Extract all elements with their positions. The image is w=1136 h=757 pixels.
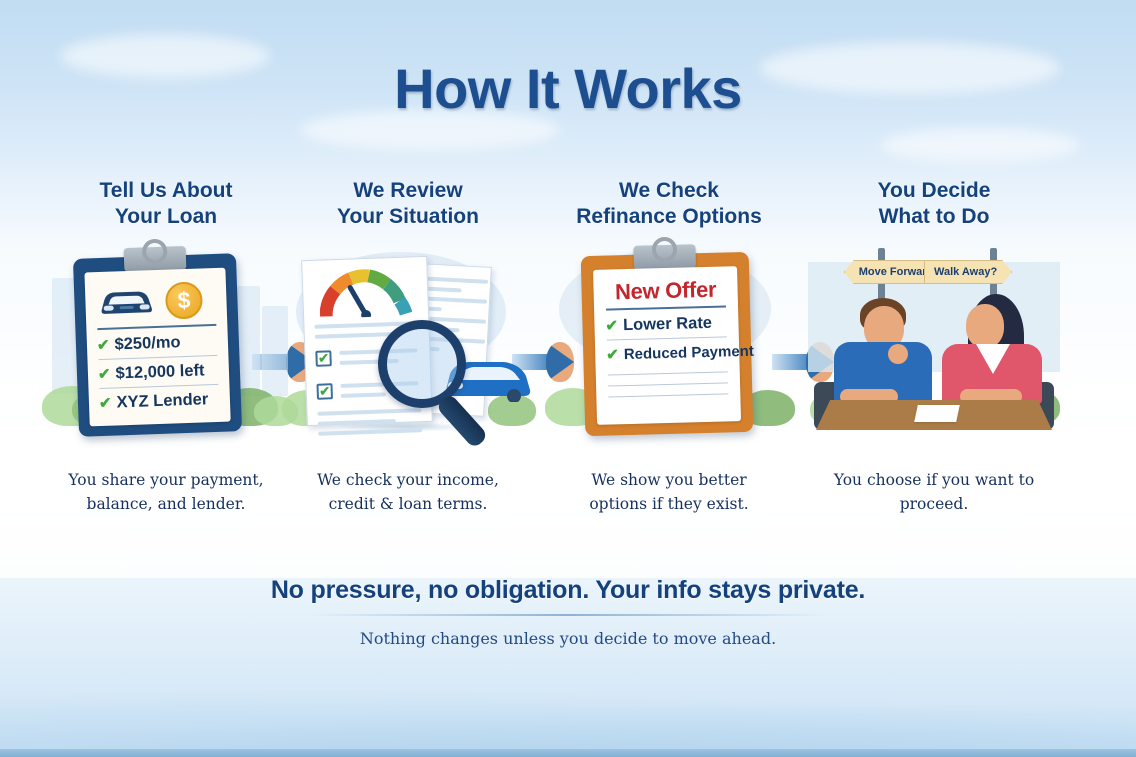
loan-item: ✔ XYZ Lender <box>98 388 222 414</box>
face <box>966 304 1004 348</box>
infographic-poster: How It Works Tell Us About Your Loan <box>0 0 1136 757</box>
footer: No pressure, no obligation. Your info st… <box>0 576 1136 648</box>
check-icon: ✔ <box>99 394 112 412</box>
step-2-illustration: ✔ ✔ <box>282 242 534 440</box>
person-woman <box>936 294 1044 404</box>
dollar-coin-icon: $ <box>165 281 203 319</box>
step-4-heading: You Decide What to Do <box>808 178 1060 232</box>
new-offer-title: New Offer <box>603 276 728 305</box>
step-3-heading-line1: We Check <box>543 178 795 204</box>
step-3-heading-line2: Refinance Options <box>543 204 795 230</box>
footer-divider <box>308 614 828 616</box>
check-icon: ✔ <box>605 316 618 334</box>
step-2-caption-line2: credit & loan terms. <box>282 492 534 516</box>
step-4-heading-line1: You Decide <box>808 178 1060 204</box>
check-icon: ✔ <box>606 345 619 363</box>
step-4-caption-line1: You choose if you want to <box>808 468 1060 492</box>
step-2-heading: We Review Your Situation <box>282 178 534 232</box>
offer-item: ✔ Reduced Payment <box>605 340 730 364</box>
loan-item-text: XYZ Lender <box>116 390 208 412</box>
hand <box>888 344 908 364</box>
checkbox-icon: ✔ <box>316 383 333 400</box>
clipboard-clip-icon <box>123 246 186 272</box>
step-2-heading-line1: We Review <box>282 178 534 204</box>
step-4-caption-line2: proceed. <box>808 492 1060 516</box>
step-1-caption-line1: You share your payment, <box>40 468 292 492</box>
step-2-caption: We check your income, credit & loan term… <box>282 468 534 516</box>
footer-subtext: Nothing changes unless you decide to mov… <box>0 629 1136 648</box>
bottom-edge-band <box>0 749 1136 757</box>
new-offer-clipboard: New Offer ✔ Lower Rate ✔ Reduced Payment <box>581 252 754 436</box>
footer-headline: No pressure, no obligation. Your info st… <box>0 576 1136 605</box>
check-icon: ✔ <box>98 365 111 383</box>
step-4: You Decide What to Do Move Forward? Walk… <box>808 178 1060 516</box>
step-1-illustration: $ ✔ $250/mo ✔ $12,000 left ✔ <box>40 242 292 440</box>
offer-item-text: Reduced Payment <box>624 343 754 363</box>
step-1: Tell Us About Your Loan <box>40 178 292 516</box>
step-3: We Check Refinance Options New Offer ✔ L… <box>543 178 795 516</box>
loan-item-text: $250/mo <box>114 333 181 354</box>
step-1-caption: You share your payment, balance, and len… <box>40 468 292 516</box>
offer-item: ✔ Lower Rate <box>604 311 729 336</box>
step-1-heading-line2: Your Loan <box>40 204 292 230</box>
magnifying-glass-icon <box>378 320 466 408</box>
credit-score-gauge-icon <box>319 267 413 318</box>
step-1-caption-line2: balance, and lender. <box>40 492 292 516</box>
step-1-heading: Tell Us About Your Loan <box>40 178 292 232</box>
step-3-caption-line2: options if they exist. <box>543 492 795 516</box>
step-3-caption: We show you better options if they exist… <box>543 468 795 516</box>
clipboard-paper: New Offer ✔ Lower Rate ✔ Reduced Payment <box>593 266 741 425</box>
check-icon: ✔ <box>97 336 110 354</box>
checkbox-icon: ✔ <box>315 350 332 367</box>
page-title: How It Works <box>0 56 1136 121</box>
step-2-heading-line2: Your Situation <box>282 204 534 230</box>
car-icon <box>97 284 156 320</box>
step-4-caption: You choose if you want to proceed. <box>808 468 1060 516</box>
clipboard-clip-icon <box>633 244 696 270</box>
step-2-caption-line1: We check your income, <box>282 468 534 492</box>
step-3-heading: We Check Refinance Options <box>543 178 795 232</box>
step-4-heading-line2: What to Do <box>808 204 1060 230</box>
step-1-heading-line1: Tell Us About <box>40 178 292 204</box>
step-4-illustration: Move Forward? Walk Away? <box>808 242 1060 440</box>
sign-label: Walk Away? <box>924 260 1012 284</box>
step-2: We Review Your Situation <box>282 178 534 516</box>
loan-item: ✔ $12,000 left <box>97 359 221 385</box>
step-3-illustration: New Offer ✔ Lower Rate ✔ Reduced Payment <box>543 242 795 440</box>
person-man <box>830 296 934 404</box>
cloud-shape <box>880 128 1080 162</box>
loan-item-text: $12,000 left <box>115 361 205 383</box>
offer-item-text: Lower Rate <box>623 314 712 335</box>
clipboard-paper: $ ✔ $250/mo ✔ $12,000 left ✔ <box>84 268 230 427</box>
step-3-caption-line1: We show you better <box>543 468 795 492</box>
loan-details-clipboard: $ ✔ $250/mo ✔ $12,000 left ✔ <box>73 253 242 437</box>
loan-item: ✔ $250/mo <box>96 330 220 356</box>
paper-on-table <box>914 405 960 422</box>
